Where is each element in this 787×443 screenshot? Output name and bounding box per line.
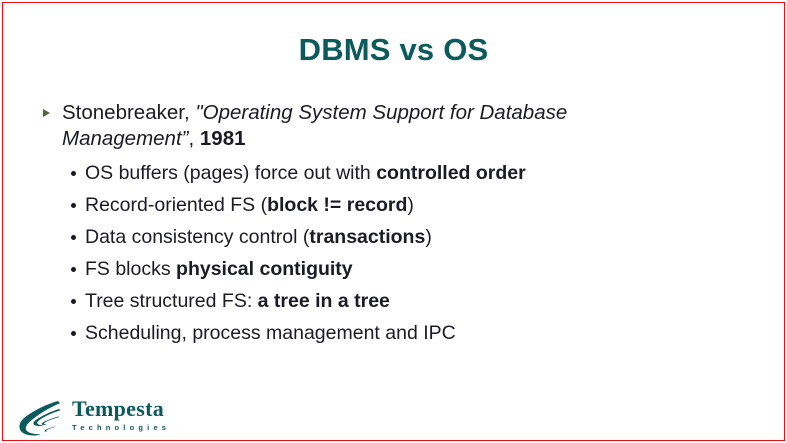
- logo-name: Tempesta: [72, 396, 170, 422]
- citation-separator: ,: [189, 127, 200, 150]
- round-bullet-icon: [71, 331, 76, 336]
- list-item: Record-oriented FS (block != record): [40, 194, 680, 226]
- list-item-text: Data consistency control (: [85, 226, 309, 248]
- list-item-emphasis: block != record: [267, 194, 407, 216]
- slide-content: Stonebreaker, "Operating System Support …: [40, 100, 680, 354]
- list-item-text: Record-oriented FS (: [85, 194, 267, 216]
- slide: DBMS vs OS Stonebreaker, "Operating Syst…: [0, 0, 787, 443]
- round-bullet-icon: [71, 235, 76, 240]
- bullet-level2-list: OS buffers (pages) force out with contro…: [40, 162, 680, 354]
- citation-quote-close: ”: [182, 127, 189, 150]
- citation-quote-open: ": [195, 101, 202, 124]
- round-bullet-icon: [71, 203, 76, 208]
- list-item-text: Tree structured FS:: [85, 290, 258, 312]
- bullet-level1: Stonebreaker, "Operating System Support …: [40, 100, 680, 152]
- list-item-emphasis: controlled order: [376, 162, 526, 184]
- triangle-bullet-icon: [43, 109, 50, 117]
- logo-subtitle: Technologies: [72, 423, 170, 433]
- list-item-emphasis: transactions: [309, 226, 425, 248]
- logo-text: Tempesta Technologies: [72, 396, 170, 433]
- list-item: Scheduling, process management and IPC: [40, 322, 680, 354]
- round-bullet-icon: [71, 267, 76, 272]
- list-item: OS buffers (pages) force out with contro…: [40, 162, 680, 194]
- citation-author: Stonebreaker,: [62, 101, 195, 124]
- page-title: DBMS vs OS: [0, 32, 787, 68]
- logo: Tempesta Technologies: [14, 396, 214, 440]
- list-item: Tree structured FS: a tree in a tree: [40, 290, 680, 322]
- list-item: Data consistency control (transactions): [40, 226, 680, 258]
- list-item-text-after: ): [425, 226, 432, 248]
- list-item-emphasis: a tree in a tree: [258, 290, 390, 312]
- list-item-text-after: ): [407, 194, 414, 216]
- round-bullet-icon: [71, 171, 76, 176]
- list-item-text: Scheduling, process management and IPC: [85, 322, 456, 344]
- list-item-emphasis: physical contiguity: [176, 258, 353, 280]
- round-bullet-icon: [71, 299, 76, 304]
- list-item-text: FS blocks: [85, 258, 176, 280]
- citation-year: 1981: [200, 127, 246, 150]
- tempesta-wing-icon: [14, 398, 70, 438]
- list-item-text: OS buffers (pages) force out with: [85, 162, 376, 184]
- list-item: FS blocks physical contiguity: [40, 258, 680, 290]
